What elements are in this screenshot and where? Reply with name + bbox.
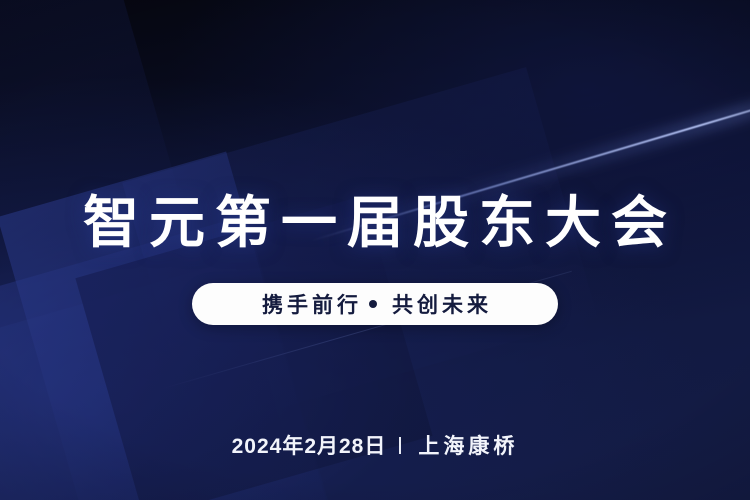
slogan-badge: 携手前行 共创未来 [192, 283, 558, 325]
page-title: 智元第一届股东大会 [0, 190, 750, 256]
slogan-right: 共创未来 [388, 289, 492, 319]
event-poster: 智元第一届股东大会 携手前行 共创未来 2024年2月28日 上海康桥 [0, 0, 750, 500]
divider-icon [399, 437, 401, 454]
poster-content: 智元第一届股东大会 携手前行 共创未来 2024年2月28日 上海康桥 [0, 0, 750, 500]
event-details: 2024年2月28日 上海康桥 [0, 430, 750, 460]
event-date: 2024年2月28日 [232, 430, 387, 460]
bullet-dot-icon [369, 300, 377, 308]
event-venue: 上海康桥 [414, 430, 518, 460]
slogan-left: 携手前行 [258, 289, 362, 319]
slogan-text: 携手前行 共创未来 [258, 289, 492, 319]
